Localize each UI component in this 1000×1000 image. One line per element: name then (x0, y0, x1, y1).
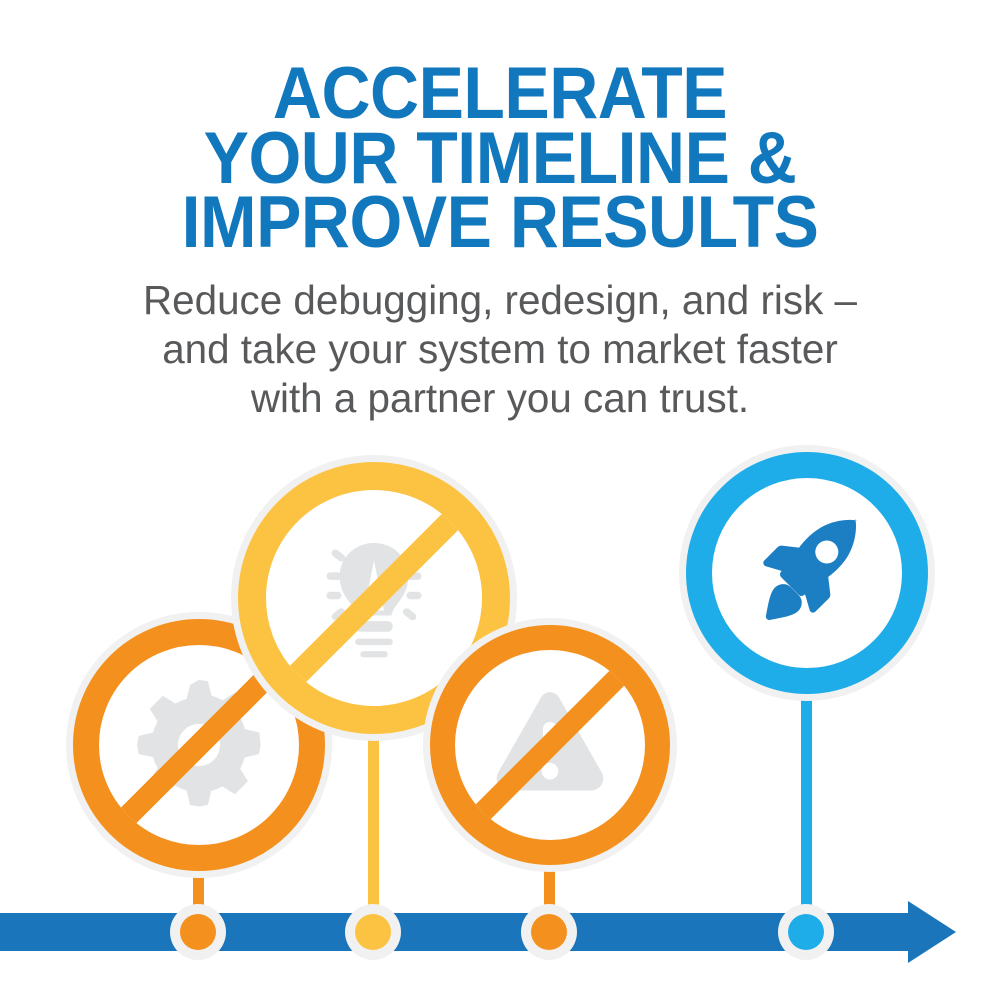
timeline-marker-2[interactable] (355, 914, 391, 950)
page-title: ACCELERATE YOUR TIMELINE & IMPROVE RESUL… (35, 62, 965, 256)
headline-line-1: ACCELERATE (35, 62, 965, 127)
timeline-bar (0, 913, 912, 951)
badge-rocket[interactable] (686, 452, 928, 694)
rocket-icon (747, 513, 867, 633)
arrow-right-icon (908, 901, 956, 963)
timeline-marker-3[interactable] (531, 914, 567, 950)
page-subtitle: Reduce debugging, redesign, and risk – a… (8, 276, 993, 422)
timeline-marker-1[interactable] (180, 914, 216, 950)
badge-inner-3 (455, 650, 645, 840)
badge-inner-4 (712, 478, 902, 668)
subtitle-line-1: Reduce debugging, redesign, and risk – (8, 276, 993, 325)
headline-line-3: IMPROVE RESULTS (35, 191, 965, 256)
subtitle-line-2: and take your system to market faster (8, 325, 993, 374)
badge-no-warning[interactable] (430, 625, 670, 865)
subtitle-line-3: with a partner you can trust. (8, 374, 993, 423)
infographic-canvas: ACCELERATE YOUR TIMELINE & IMPROVE RESUL… (0, 0, 1000, 1000)
timeline-marker-4[interactable] (788, 914, 824, 950)
node-stem-4 (801, 678, 812, 936)
